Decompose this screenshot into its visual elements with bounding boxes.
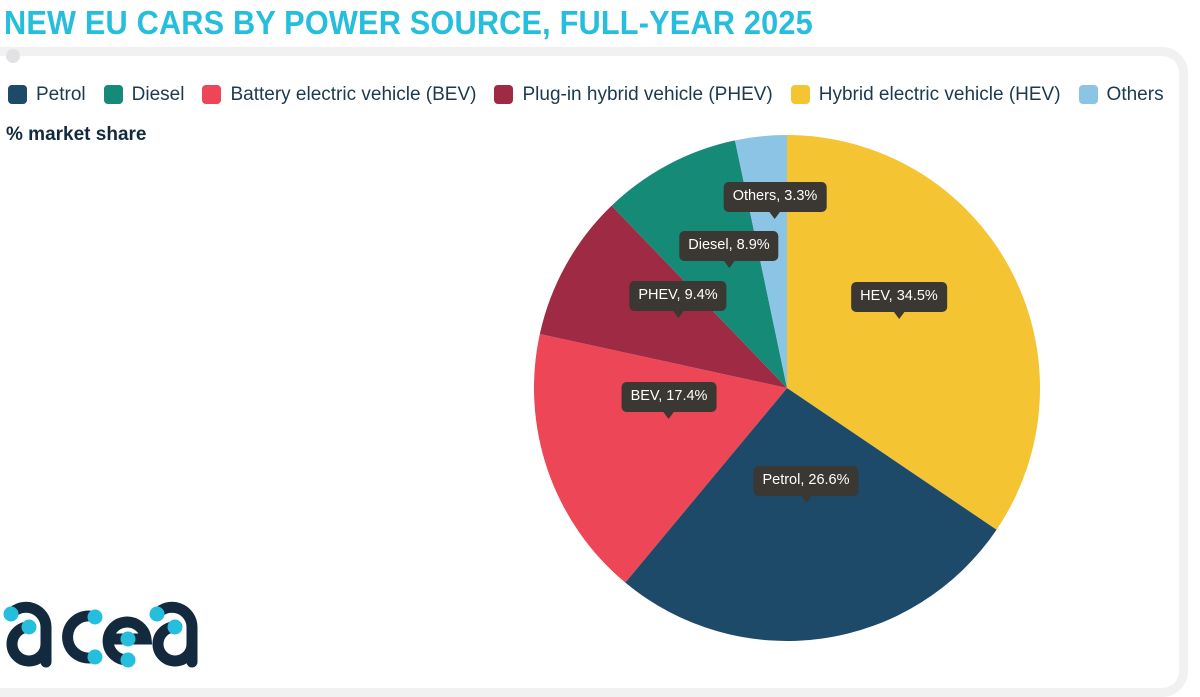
data-label-hev: HEV, 34.5% [851,282,947,312]
logo-accent-dot [168,620,183,635]
logo-accent-dot [4,607,19,622]
data-label-diesel: Diesel, 8.9% [679,231,778,261]
pie-svg [0,0,1200,675]
logo-accent-dot [22,620,37,635]
acea-logo [2,584,202,670]
data-label-phev: PHEV, 9.4% [629,281,726,311]
logo-accent-dot [121,632,136,647]
data-label-bev: BEV, 17.4% [622,382,717,412]
logo-accent-dot [121,653,136,668]
pie-chart: HEV, 34.5%Petrol, 26.6%BEV, 17.4%PHEV, 9… [0,0,1200,675]
logo-accent-dot [88,610,103,625]
logo-accent-dot [150,607,165,622]
data-label-petrol: Petrol, 26.6% [753,466,858,496]
logo-accent-dot [88,650,103,665]
data-label-others: Others, 3.3% [724,182,827,212]
